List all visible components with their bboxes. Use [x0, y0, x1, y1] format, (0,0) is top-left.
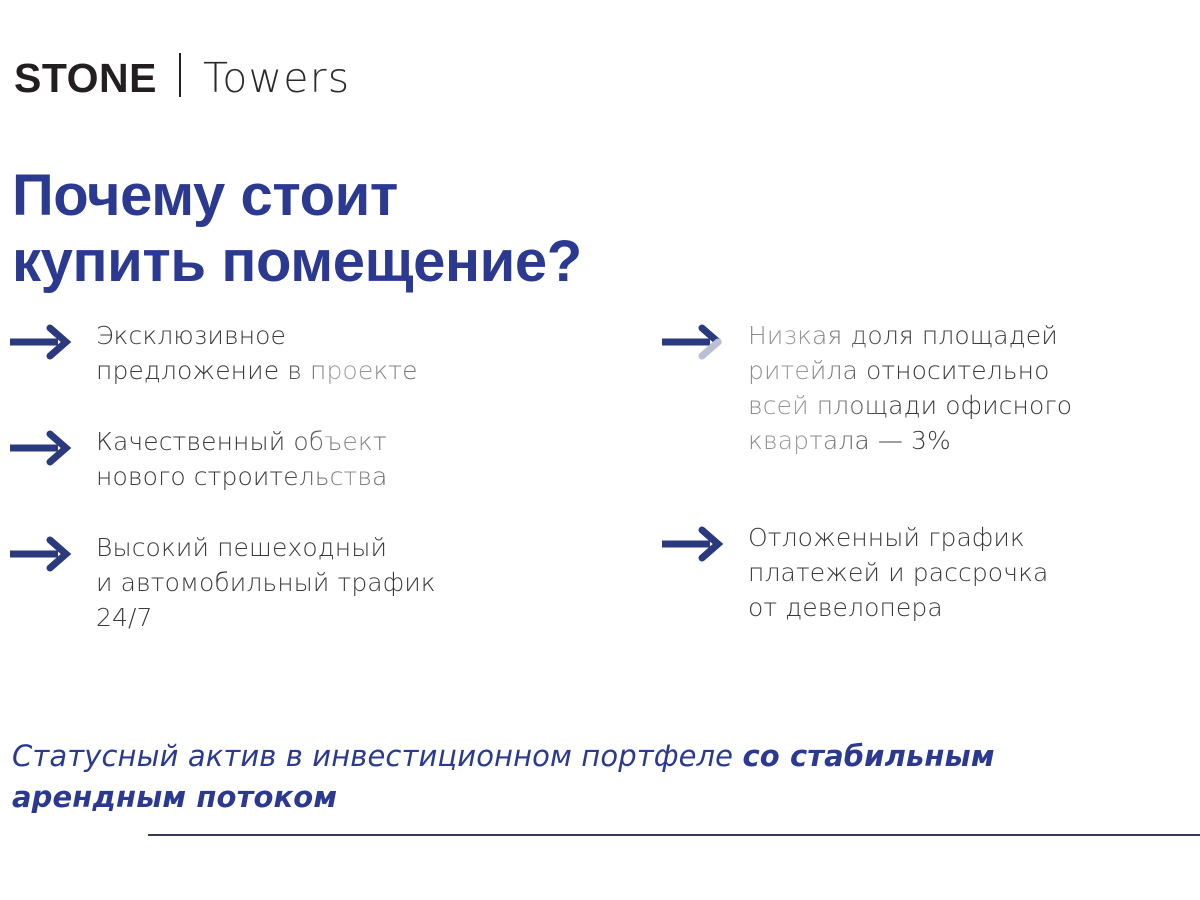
footer-divider — [148, 834, 1200, 836]
list-item-label: Качественный объект нового строительства — [96, 424, 387, 494]
arrow-right-icon — [10, 536, 74, 572]
list-item: Высокий пешеходный и автомобильный трафи… — [10, 530, 610, 635]
list-item: Низкая доля площадей ритейла относительн… — [662, 318, 1182, 458]
slide-canvas: STONE Towers Почему стоит купить помещен… — [0, 0, 1200, 900]
arrow-right-icon — [10, 430, 74, 466]
benefits-column-right: Низкая доля площадей ритейла относительн… — [662, 318, 1182, 661]
list-item-label: Высокий пешеходный и автомобильный трафи… — [96, 530, 436, 635]
list-item: Эксклюзивное предложение в проекте — [10, 318, 610, 388]
footer-lead: Статусный актив в инвестиционном портфел… — [12, 739, 742, 773]
list-item: Отложенный график платежей и рассрочка о… — [662, 520, 1182, 625]
brand-logo: STONE Towers — [14, 48, 350, 99]
list-item-label: Отложенный график платежей и рассрочка о… — [748, 520, 1048, 625]
arrow-right-icon — [662, 526, 726, 562]
footer-statement: Статусный актив в инвестиционном портфел… — [12, 736, 1012, 818]
benefits-column-left: Эксклюзивное предложение в проекте Качес… — [10, 318, 610, 671]
list-item: Качественный объект нового строительства — [10, 424, 610, 494]
brand-product: Towers — [203, 58, 350, 99]
arrow-right-icon — [10, 324, 74, 360]
footer-text-line: Статусный актив в инвестиционном портфел… — [12, 736, 1012, 818]
arrow-right-icon — [662, 324, 726, 360]
list-item-label: Эксклюзивное предложение в проекте — [96, 318, 418, 388]
list-item-label: Низкая доля площадей ритейла относительн… — [748, 318, 1072, 458]
benefits-columns: Эксклюзивное предложение в проекте Качес… — [0, 318, 1200, 718]
logo-divider — [179, 53, 181, 97]
page-title: Почему стоит купить помещение? — [12, 163, 912, 295]
brand-name: STONE — [14, 58, 157, 99]
